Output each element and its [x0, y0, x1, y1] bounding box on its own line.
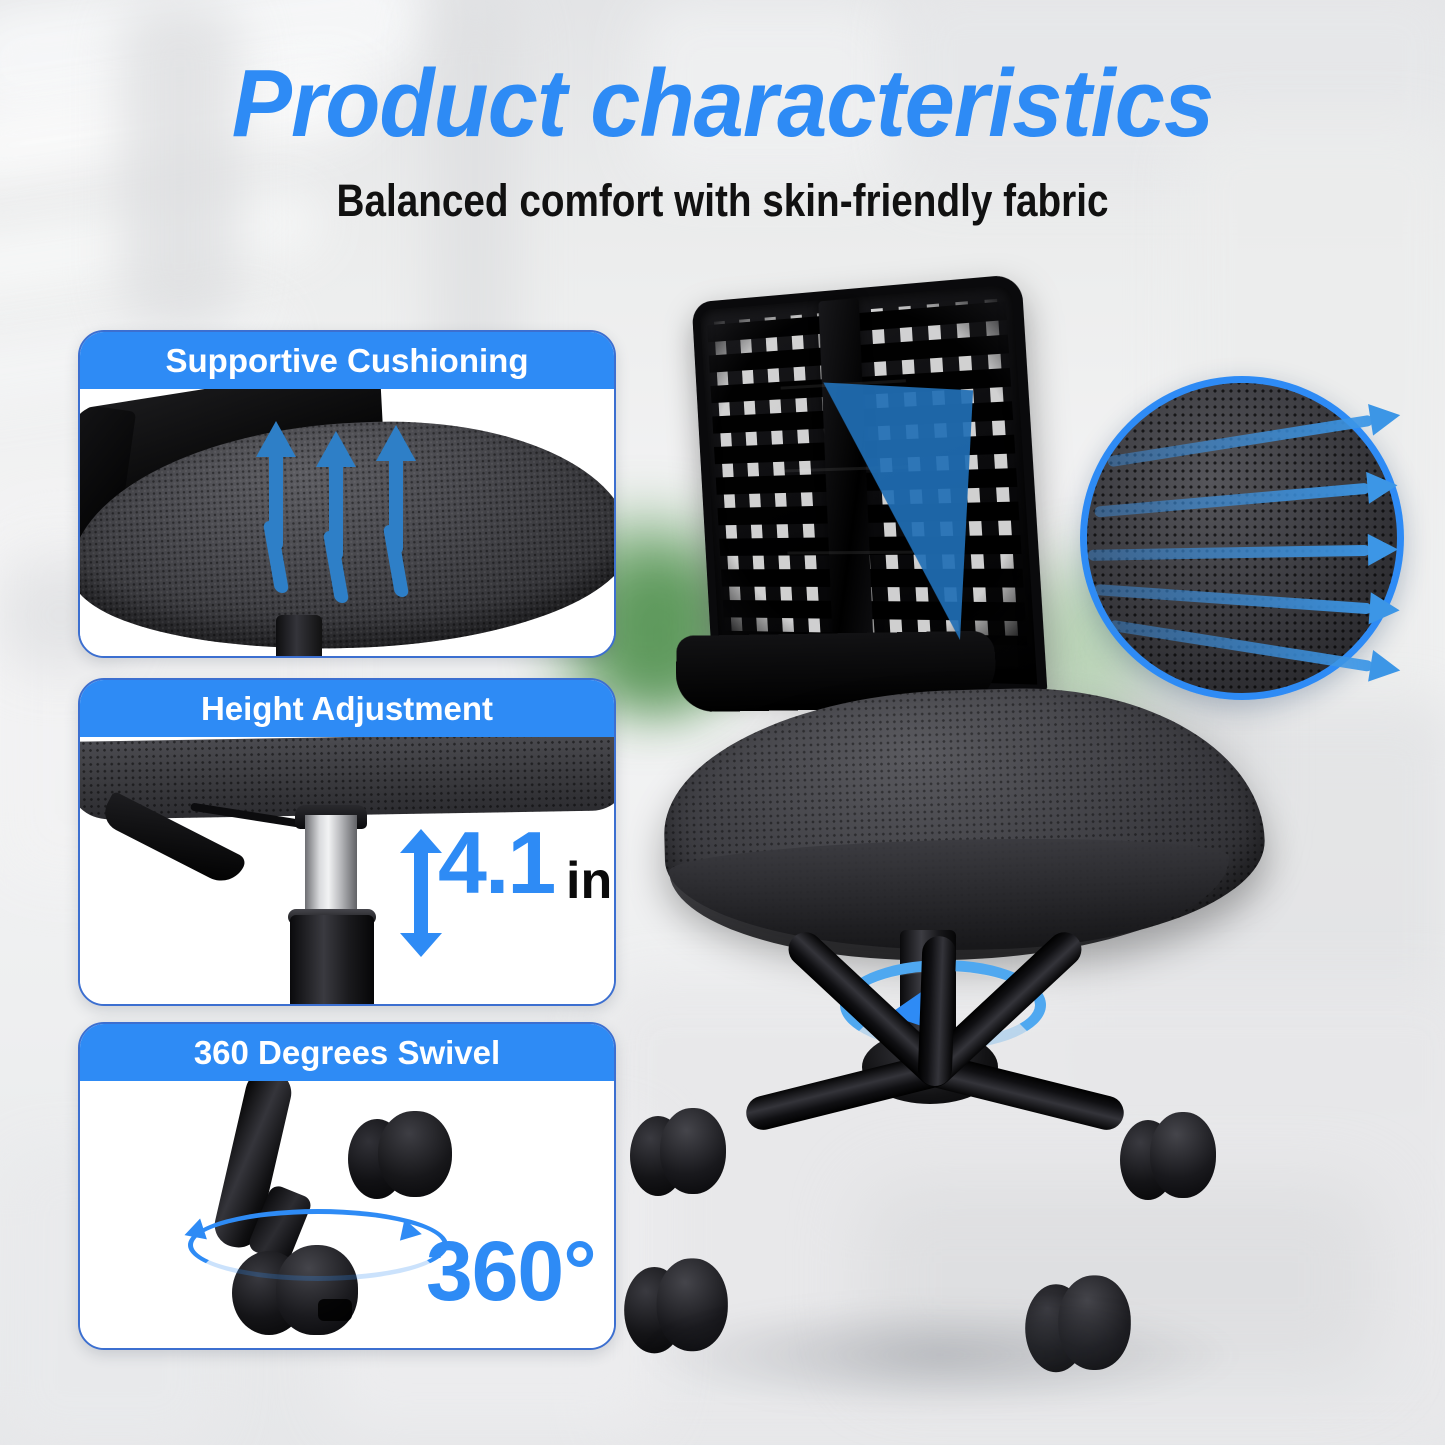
height-value: 4.1 [438, 819, 554, 907]
background-blur-shape [120, 0, 240, 330]
breathability-arrows-group [1060, 376, 1420, 696]
black-cylinder-housing [290, 915, 374, 1004]
card-header-label: Height Adjustment [80, 680, 614, 737]
feature-card-height-adjustment: Height Adjustment 4.1 in [78, 678, 616, 1006]
page-title: Product characteristics [43, 56, 1401, 152]
chair-caster [1120, 1112, 1216, 1204]
card-header-label: Supportive Cushioning [80, 332, 614, 389]
seat-stem [276, 615, 322, 656]
floor-shadow [640, 1300, 1240, 1410]
card-photo-supportive-cushioning [80, 389, 614, 656]
card-photo-360-swivel: 360° [80, 1081, 614, 1348]
card-header-label: 360 Degrees Swivel [80, 1024, 614, 1081]
card-photo-height-adjustment: 4.1 in [80, 737, 614, 1004]
chair-caster [630, 1108, 726, 1200]
chrome-gas-cylinder [305, 815, 357, 921]
infographic-canvas: Product characteristics Balanced comfort… [0, 0, 1445, 1445]
magnifier-cone-dark [810, 382, 973, 640]
breathability-arrow-right-icon [1094, 579, 1411, 621]
breathability-arrow-right-icon [1108, 615, 1407, 682]
base-spoke [917, 935, 956, 1086]
page-subtitle: Balanced comfort with skin-friendly fabr… [101, 178, 1344, 223]
double-headed-vertical-arrow-icon [400, 829, 442, 957]
feature-card-supportive-cushioning: Supportive Cushioning [78, 330, 616, 658]
swivel-degrees-value: 360° [426, 1229, 596, 1313]
caster-wheel-background [348, 1111, 452, 1205]
breathability-arrow-right-icon [1088, 539, 1408, 565]
feature-card-360-degrees-swivel: 360 Degrees Swivel 360° [78, 1022, 616, 1350]
breathability-arrow-right-icon [1106, 405, 1405, 472]
breathability-arrow-right-icon [1094, 474, 1409, 521]
